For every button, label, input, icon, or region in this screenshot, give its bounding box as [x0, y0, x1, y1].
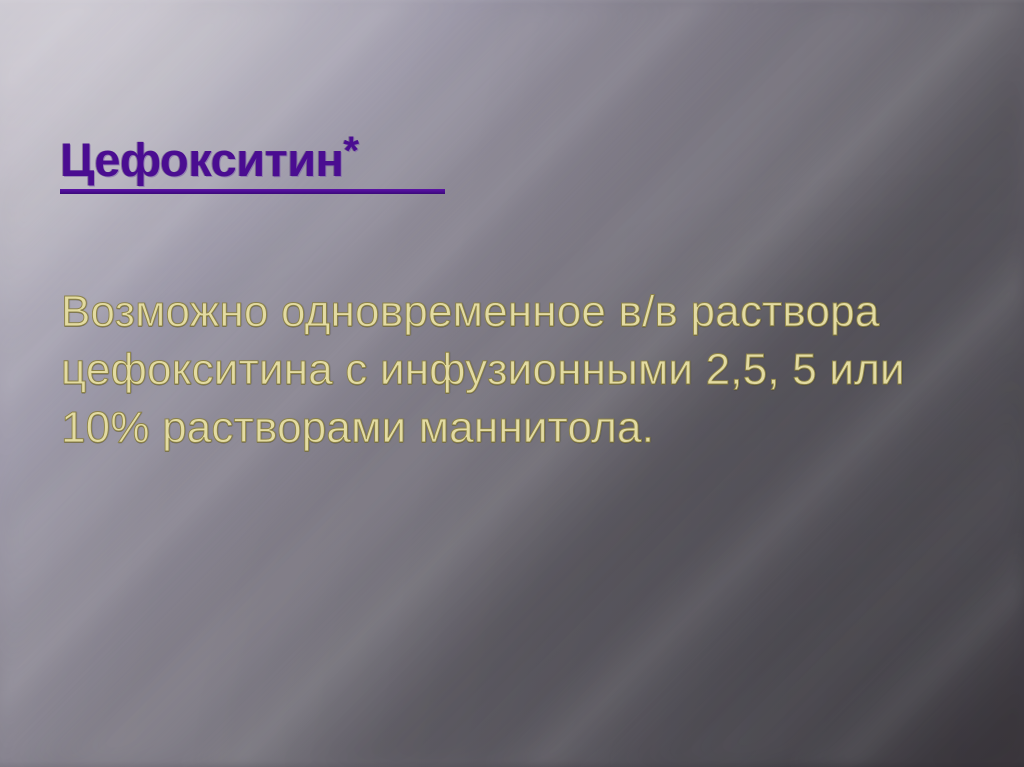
footnote-asterisk: * — [344, 129, 360, 173]
slide-title-text: Цефокситин — [60, 133, 344, 186]
slide-body-text: Возможно одновременное в/в раствора цефо… — [61, 283, 906, 457]
presentation-slide: Цефокситин* Возможно одновременное в/в р… — [0, 0, 1024, 767]
slide-title: Цефокситин* — [60, 131, 359, 183]
slide-content: Цефокситин* Возможно одновременное в/в р… — [0, 0, 1024, 767]
title-underline-rule — [60, 189, 445, 194]
